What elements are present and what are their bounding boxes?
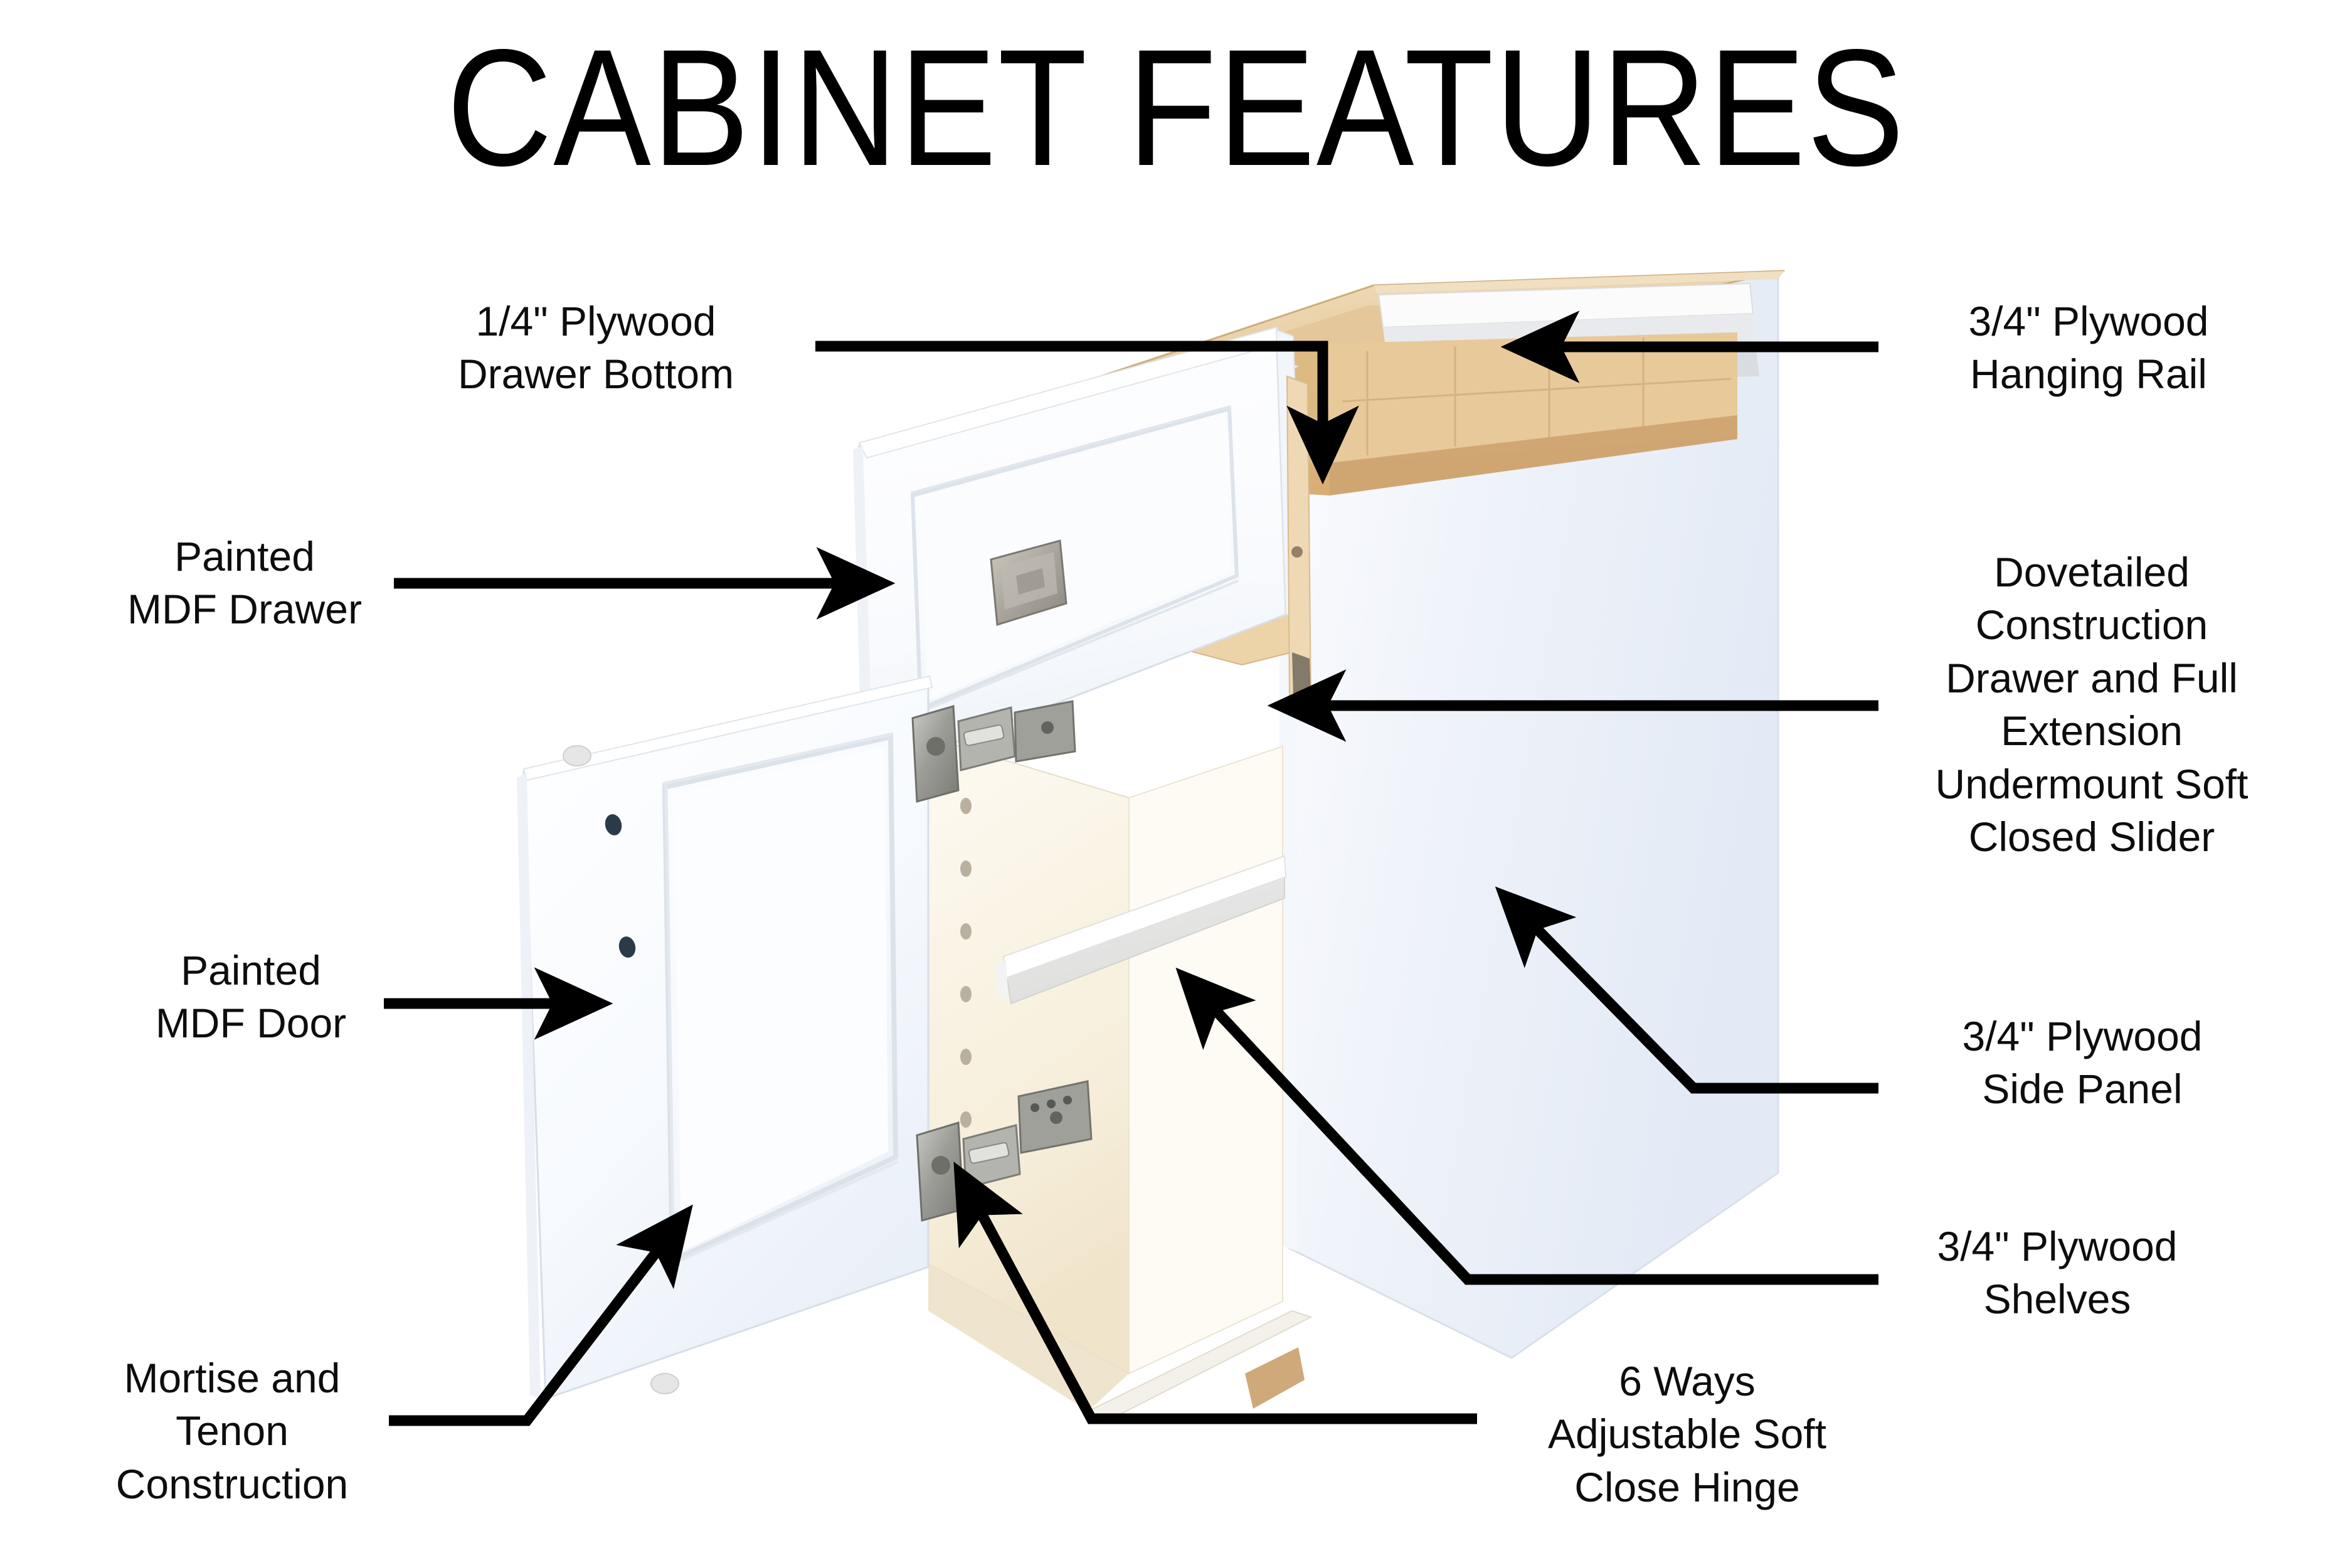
label-drawer-bottom: 1/4" Plywood Drawer Bottom [414, 295, 778, 401]
undermount-slider-edge [1287, 376, 1311, 702]
label-hanging-rail: 3/4" Plywood Hanging Rail [1913, 295, 2264, 401]
label-soft-close-hinge: 6 Ways Adjustable Soft Close Hinge [1499, 1355, 1875, 1513]
cabinet-door [517, 676, 932, 1400]
cabinet-interior [928, 737, 1283, 1411]
label-shelves: 3/4" Plywood Shelves [1882, 1220, 2233, 1326]
label-painted-mdf-drawer: Painted MDF Drawer [82, 530, 408, 636]
cabinet-features-infographic: CABINET FEATURES [0, 0, 2352, 1568]
label-mortise-tenon: Mortise and Tenon Construction [69, 1352, 395, 1510]
label-painted-mdf-door: Painted MDF Door [113, 944, 389, 1050]
label-side-panel: 3/4" Plywood Side Panel [1907, 1010, 2258, 1116]
label-dovetailed-construction: Dovetailed Construction Drawer and Full … [1878, 546, 2305, 864]
